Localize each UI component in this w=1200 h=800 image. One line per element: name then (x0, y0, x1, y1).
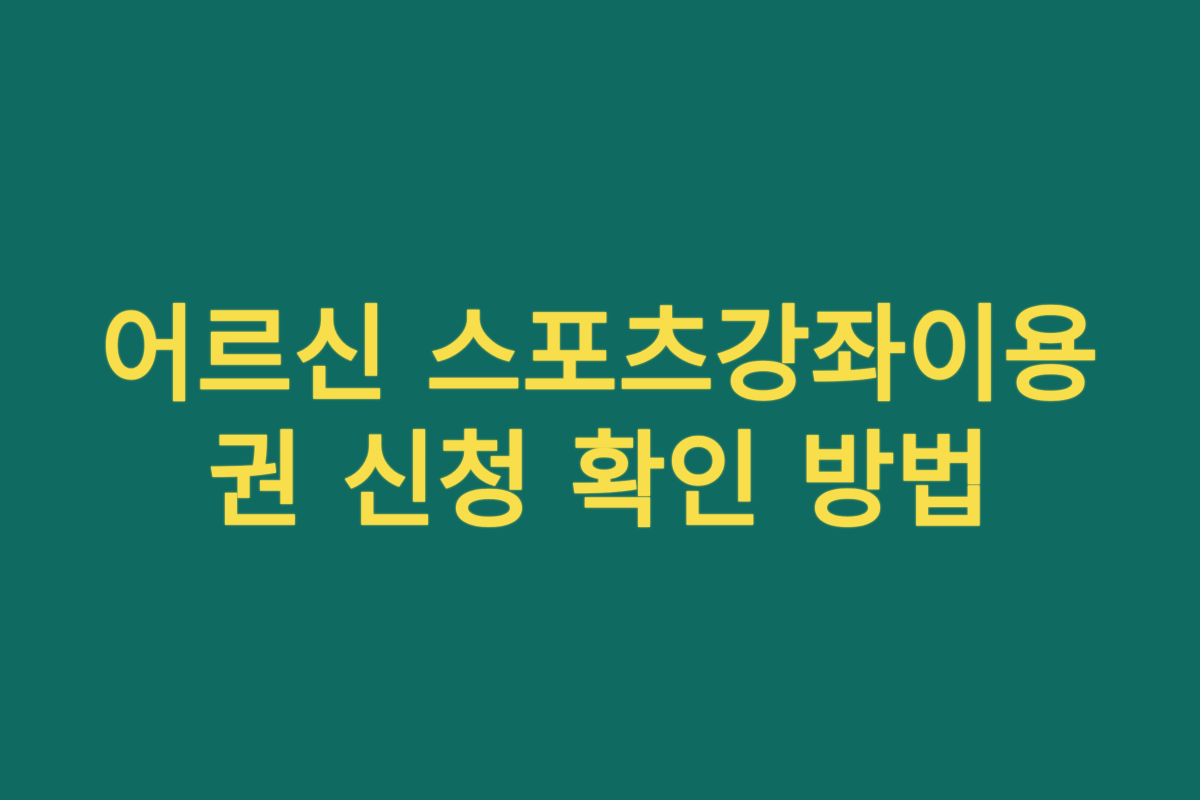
title-line-2: 권 신청 확인 방법 (0, 418, 1200, 544)
title-block: 어르신 스포츠강좌이용 권 신청 확인 방법 (0, 292, 1200, 544)
title-line-1: 어르신 스포츠강좌이용 (0, 292, 1200, 418)
title-card-banner: 어르신 스포츠강좌이용 권 신청 확인 방법 (0, 0, 1200, 800)
